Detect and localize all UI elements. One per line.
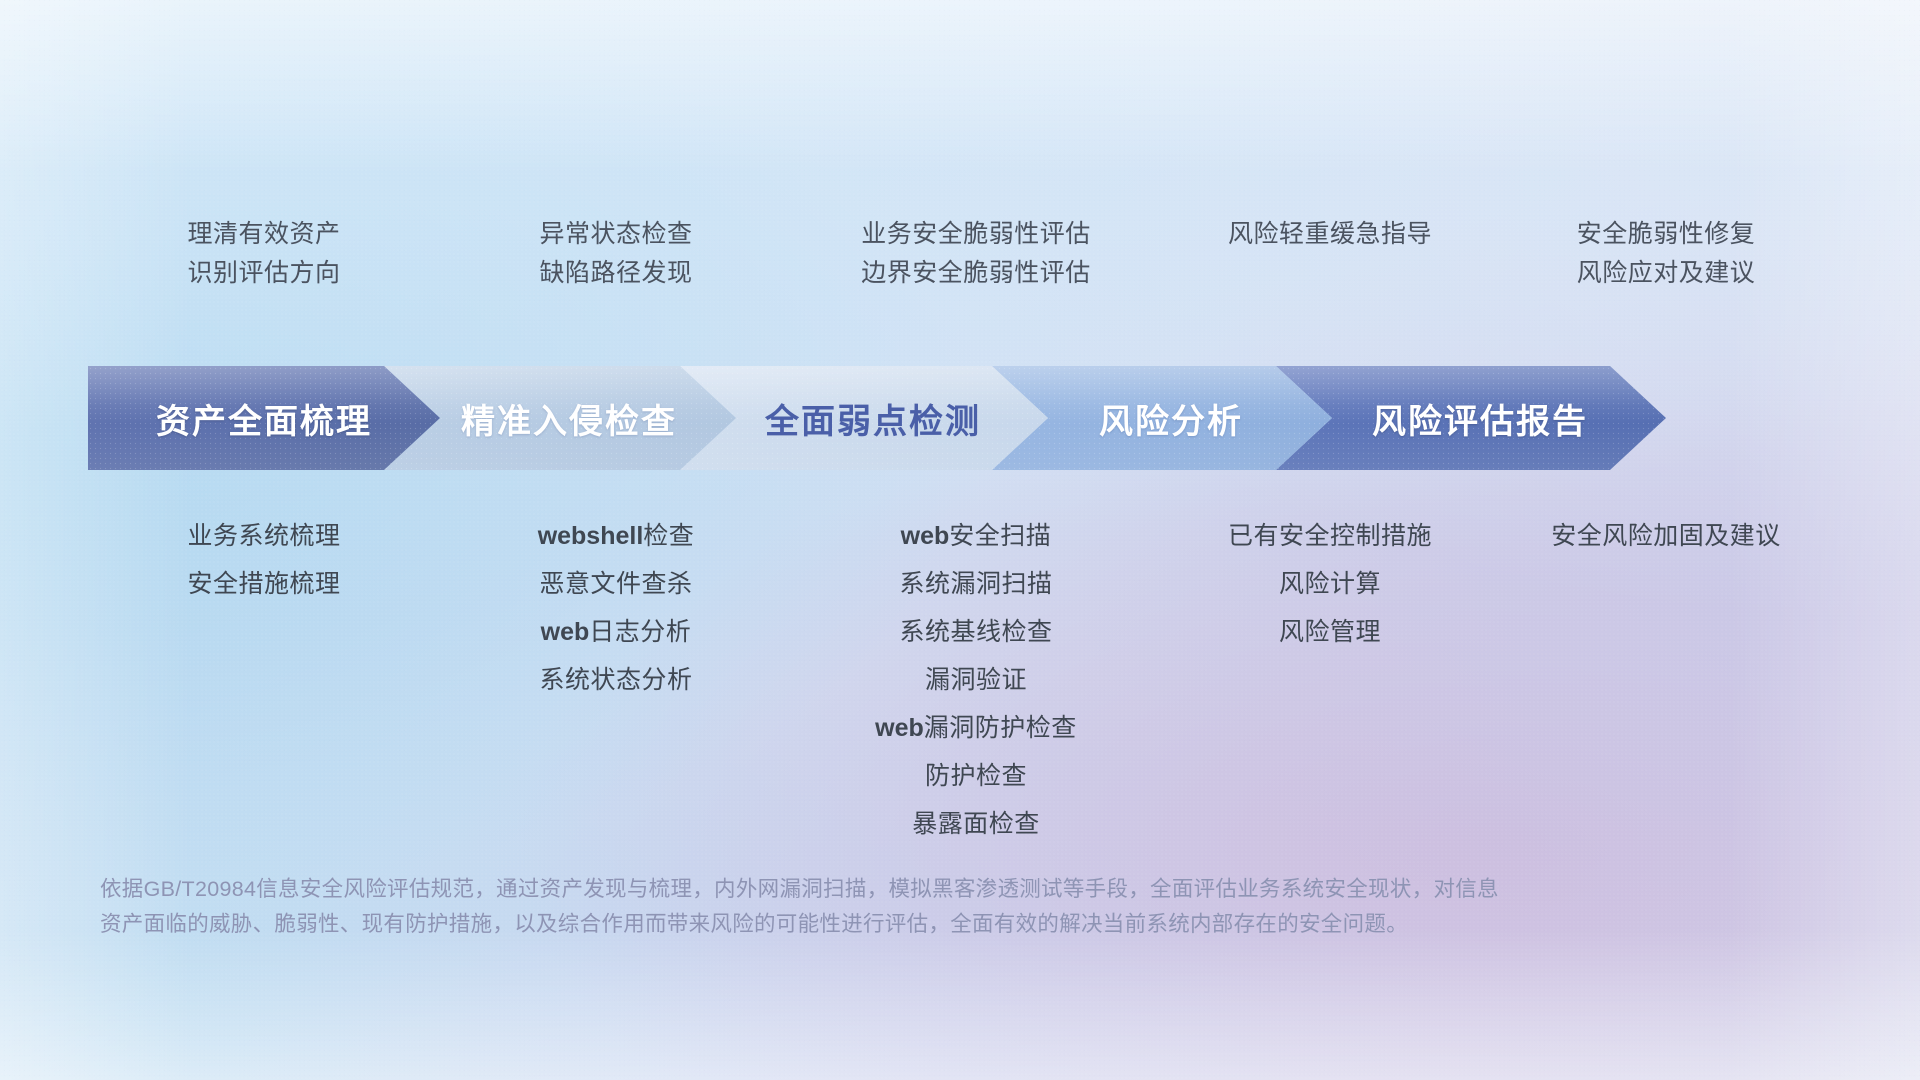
top-captions-risk-analysis: 风险轻重缓急指导	[1160, 222, 1500, 332]
caption: 缺陷路径发现	[539, 261, 692, 286]
list-item: 恶意文件查杀	[539, 560, 692, 608]
caption: 理清有效资产	[187, 222, 340, 247]
caption: 风险轻重缓急指导	[1228, 222, 1432, 247]
footer-description: 依据GB/T20984信息安全风险评估规范，通过资产发现与梳理，内外网漏洞扫描，…	[100, 872, 1620, 942]
bottom-items-risk-analysis: 已有安全控制措施 风险计算 风险管理	[1160, 512, 1500, 832]
top-captions-asset-inventory: 理清有效资产 识别评估方向	[88, 222, 440, 332]
top-captions-assessment-report: 安全脆弱性修复 风险应对及建议	[1500, 222, 1832, 332]
footer-line-2: 资产面临的威胁、脆弱性、现有防护措施，以及综合作用而带来风险的可能性进行评估，全…	[100, 907, 1620, 942]
list-item: 系统状态分析	[539, 656, 692, 704]
caption: 边界安全脆弱性评估	[861, 261, 1091, 286]
list-item: 漏洞验证	[925, 656, 1027, 704]
list-item: 业务系统梳理	[187, 512, 340, 560]
list-item: 暴露面检查	[912, 800, 1040, 848]
stage-chevron-band: 资产全面梳理 精准入侵检查 全面弱点检测 风险分析	[88, 366, 1834, 470]
top-caption-row: 理清有效资产 识别评估方向 异常状态检查 缺陷路径发现 业务安全脆弱性评估 边界…	[88, 222, 1832, 332]
list-item: web日志分析	[541, 608, 692, 656]
footer-line-1: 依据GB/T20984信息安全风险评估规范，通过资产发现与梳理，内外网漏洞扫描，…	[100, 872, 1620, 907]
bottom-items-assessment-report: 安全风险加固及建议	[1500, 512, 1832, 832]
list-item: 系统基线检查	[899, 608, 1052, 656]
bottom-items-asset-inventory: 业务系统梳理 安全措施梳理	[88, 512, 440, 832]
caption: 识别评估方向	[187, 261, 340, 286]
list-item: web漏洞防护检查	[875, 704, 1077, 752]
chevron-label: 资产全面梳理	[88, 394, 440, 443]
top-captions-intrusion-check: 异常状态检查 缺陷路径发现	[440, 222, 792, 332]
caption: 业务安全脆弱性评估	[861, 222, 1091, 247]
list-item: web安全扫描	[901, 512, 1052, 560]
caption: 风险应对及建议	[1577, 261, 1756, 286]
list-item: webshell检查	[538, 512, 695, 560]
bottom-caption-row: 业务系统梳理 安全措施梳理 webshell检查 恶意文件查杀 web日志分析 …	[88, 512, 1832, 832]
list-item: 安全风险加固及建议	[1551, 512, 1781, 560]
list-item: 防护检查	[925, 752, 1027, 800]
list-item: 已有安全控制措施	[1228, 512, 1432, 560]
top-captions-weakness-detection: 业务安全脆弱性评估 边界安全脆弱性评估	[792, 222, 1160, 332]
chevron-assessment-report[interactable]: 风险评估报告	[1276, 366, 1666, 470]
caption: 异常状态检查	[539, 222, 692, 247]
process-diagram: 理清有效资产 识别评估方向 异常状态检查 缺陷路径发现 业务安全脆弱性评估 边界…	[0, 0, 1920, 1080]
chevron-label: 风险评估报告	[1276, 394, 1666, 443]
caption: 安全脆弱性修复	[1577, 222, 1756, 247]
bottom-items-intrusion-check: webshell检查 恶意文件查杀 web日志分析 系统状态分析	[440, 512, 792, 832]
list-item: 风险管理	[1279, 608, 1381, 656]
list-item: 安全措施梳理	[187, 560, 340, 608]
list-item: 系统漏洞扫描	[899, 560, 1052, 608]
list-item: 风险计算	[1279, 560, 1381, 608]
chevron-asset-inventory[interactable]: 资产全面梳理	[88, 366, 440, 470]
bottom-items-weakness-detection: web安全扫描 系统漏洞扫描 系统基线检查 漏洞验证 web漏洞防护检查 防护检…	[792, 512, 1160, 832]
